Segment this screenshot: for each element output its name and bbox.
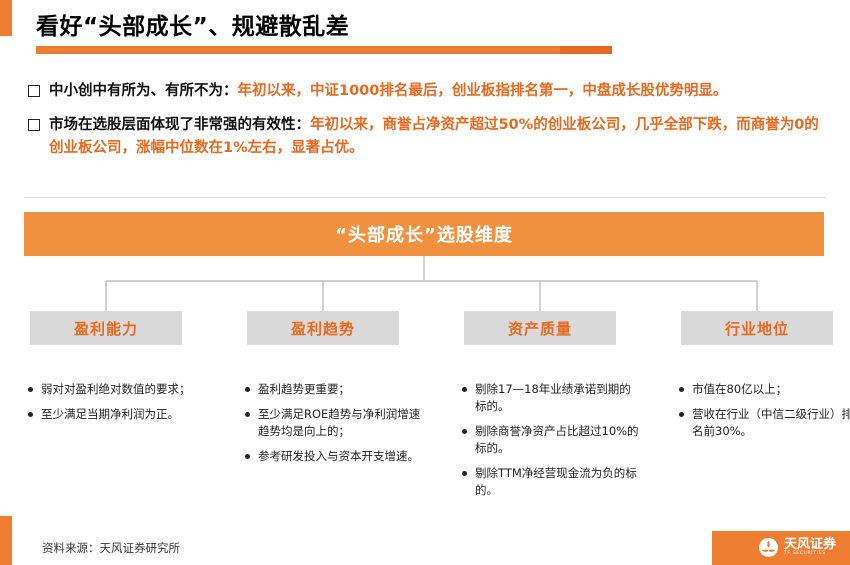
list-item-text: 至少满足ROE趋势与净利润增速趋势均是向上的； <box>258 406 425 440</box>
list-item: 盈利趋势更重要； <box>245 381 425 398</box>
category-list-profitability: 弱对对盈利绝对数值的要求； 至少满足当期净利润为正。 <box>28 381 208 431</box>
list-item-text: 剔除商誉净资产占比超过10%的标的。 <box>475 423 642 457</box>
round-bullet-icon <box>245 387 250 392</box>
round-bullet-icon <box>679 412 684 417</box>
round-bullet-icon <box>245 412 250 417</box>
category-label: 行业地位 <box>725 318 789 339</box>
round-bullet-icon <box>462 471 467 476</box>
bullet-text: 市场在选股层面体现了非常强的有效性：年初以来，商誉占净资产超过50%的创业板公司… <box>49 114 828 160</box>
left-accent-gap <box>0 36 12 516</box>
bullet-lead: 中小创中有所为、有所不为： <box>49 83 238 99</box>
list-item-text: 盈利趋势更重要； <box>258 381 350 398</box>
bullet-item: 市场在选股层面体现了非常强的有效性：年初以来，商誉占净资产超过50%的创业板公司… <box>28 114 828 160</box>
round-bullet-icon <box>462 429 467 434</box>
category-label: 盈利趋势 <box>291 318 355 339</box>
square-bullet-icon <box>28 119 40 131</box>
page-title: 看好“头部成长”、规避散乱差 <box>36 10 596 50</box>
list-item: 剔除17—18年业绩承诺到期的标的。 <box>462 381 642 415</box>
category-box-profitability: 盈利能力 <box>30 311 182 345</box>
round-bullet-icon <box>28 412 33 417</box>
category-box-asset-quality: 资产质量 <box>464 311 616 345</box>
category-list-asset-quality: 剔除17—18年业绩承诺到期的标的。 剔除商誉净资产占比超过10%的标的。 剔除… <box>462 381 642 507</box>
list-item-text: 至少满足当期净利润为正。 <box>41 406 179 423</box>
list-item: 至少满足当期净利润为正。 <box>28 406 208 423</box>
tianfeng-logo-icon <box>759 538 778 557</box>
brand-logo: 天风证券 TF SECURITIES <box>759 538 836 557</box>
bullet-section: 中小创中有所为、有所不为：年初以来，中证1000排名最后，创业板指排名第一，中盘… <box>28 80 828 171</box>
square-bullet-icon <box>28 85 40 97</box>
category-box-industry-position: 行业地位 <box>681 311 833 345</box>
category-label: 盈利能力 <box>74 318 138 339</box>
list-item: 参考研发投入与资本开支增速。 <box>245 448 425 465</box>
list-item-text: 剔除TTM净经营现金流为负的标的。 <box>475 465 642 499</box>
list-item: 剔除商誉净资产占比超过10%的标的。 <box>462 423 642 457</box>
list-item: 弱对对盈利绝对数值的要求； <box>28 381 208 398</box>
section-divider <box>24 197 826 198</box>
list-item: 市值在80亿以上； <box>679 381 850 398</box>
diagram-header-label: “头部成长”选股维度 <box>335 221 513 247</box>
round-bullet-icon <box>679 387 684 392</box>
list-item-text: 营收在行业（中信二级行业）排名前30%。 <box>692 406 850 440</box>
list-item-text: 弱对对盈利绝对数值的要求； <box>41 381 191 398</box>
category-list-industry-position: 市值在80亿以上； 营收在行业（中信二级行业）排名前30%。 <box>679 381 850 448</box>
round-bullet-icon <box>28 387 33 392</box>
title-underline <box>36 46 611 54</box>
footer-source-area: 资料来源：天风证券研究所 <box>12 531 712 565</box>
brand-name: 天风证券 <box>784 538 836 551</box>
list-item-text: 参考研发投入与资本开支增速。 <box>258 448 419 465</box>
category-label: 资产质量 <box>508 318 572 339</box>
category-list-profit-trend: 盈利趋势更重要； 至少满足ROE趋势与净利润增速趋势均是向上的； 参考研发投入与… <box>245 381 425 473</box>
list-item: 营收在行业（中信二级行业）排名前30%。 <box>679 406 850 440</box>
list-item-text: 市值在80亿以上； <box>692 381 787 398</box>
list-item-text: 剔除17—18年业绩承诺到期的标的。 <box>475 381 642 415</box>
round-bullet-icon <box>245 454 250 459</box>
diagram-header-band: “头部成长”选股维度 <box>24 212 824 256</box>
list-item: 至少满足ROE趋势与净利润增速趋势均是向上的； <box>245 406 425 440</box>
page-title-text: 看好“头部成长”、规避散乱差 <box>36 10 596 44</box>
title-underline-accent <box>560 46 612 54</box>
footer-source-text: 资料来源：天风证券研究所 <box>12 540 180 556</box>
bullet-item: 中小创中有所为、有所不为：年初以来，中证1000排名最后，创业板指排名第一，中盘… <box>28 80 828 103</box>
category-box-profit-trend: 盈利趋势 <box>247 311 399 345</box>
bullet-text: 中小创中有所为、有所不为：年初以来，中证1000排名最后，创业板指排名第一，中盘… <box>49 80 727 103</box>
list-item: 剔除TTM净经营现金流为负的标的。 <box>462 465 642 499</box>
bullet-lead: 市场在选股层面体现了非常强的有效性： <box>49 117 310 133</box>
bullet-body: 年初以来，中证1000排名最后，创业板指排名第一，中盘成长股优势明显。 <box>238 83 728 99</box>
round-bullet-icon <box>462 387 467 392</box>
